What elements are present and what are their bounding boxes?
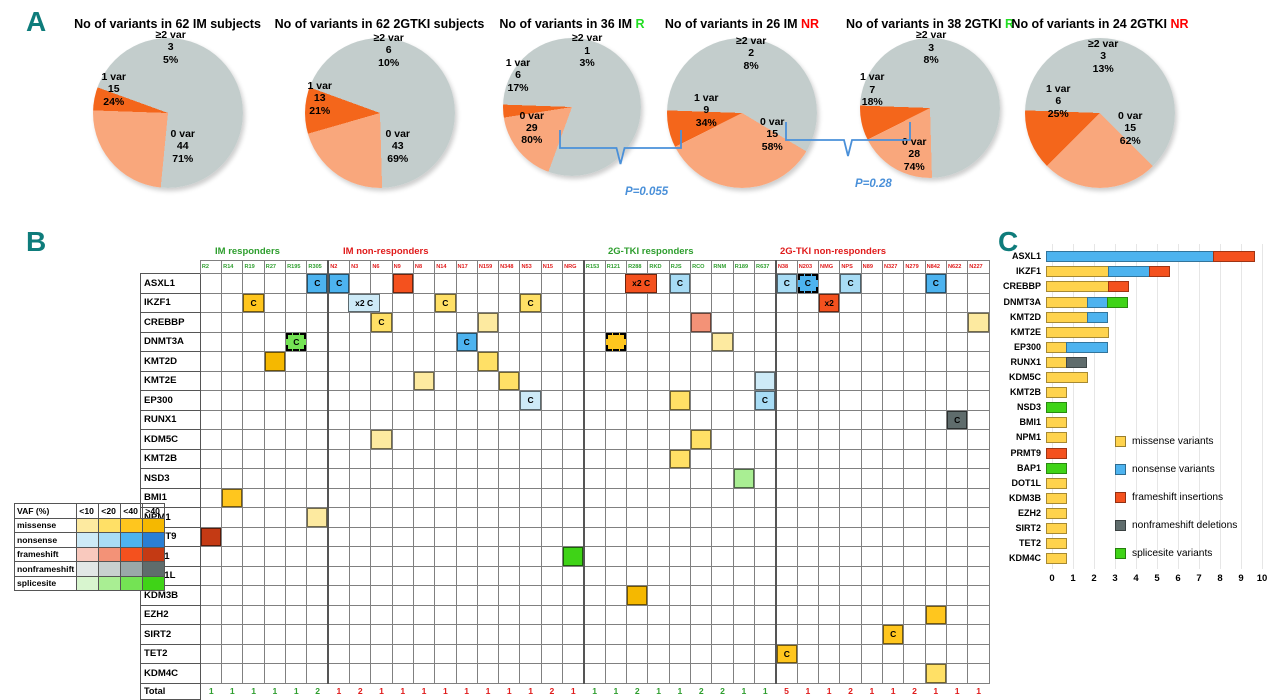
matrix-cell[interactable]	[819, 313, 840, 333]
matrix-cell[interactable]	[243, 488, 264, 508]
matrix-cell[interactable]	[968, 469, 990, 489]
matrix-cell[interactable]	[755, 605, 776, 625]
matrix-cell[interactable]	[669, 605, 690, 625]
matrix-cell[interactable]	[328, 430, 349, 450]
sample-header-N53[interactable]: N53	[520, 261, 541, 274]
matrix-cell[interactable]	[435, 488, 456, 508]
matrix-cell[interactable]	[499, 410, 520, 430]
matrix-cell[interactable]	[264, 508, 285, 528]
matrix-cell[interactable]	[286, 586, 307, 606]
matrix-cell[interactable]	[392, 527, 413, 547]
matrix-cell[interactable]	[200, 293, 221, 313]
matrix-cell[interactable]	[350, 586, 371, 606]
matrix-cell[interactable]	[946, 547, 967, 567]
matrix-cell[interactable]	[776, 605, 797, 625]
matrix-cell[interactable]	[200, 547, 221, 567]
matrix-cell[interactable]	[413, 586, 434, 606]
matrix-cell[interactable]	[882, 566, 903, 586]
matrix-cell[interactable]: C	[925, 274, 946, 294]
matrix-cell[interactable]	[691, 527, 712, 547]
matrix-cell[interactable]	[584, 274, 605, 294]
matrix-cell[interactable]	[477, 313, 498, 333]
matrix-cell[interactable]	[499, 625, 520, 645]
matrix-cell[interactable]	[520, 605, 541, 625]
matrix-cell[interactable]	[797, 371, 818, 391]
sample-header-RCO[interactable]: RCO	[691, 261, 712, 274]
matrix-cell[interactable]	[861, 605, 882, 625]
matrix-cell[interactable]	[563, 313, 584, 333]
matrix-cell[interactable]	[819, 508, 840, 528]
matrix-cell[interactable]	[243, 449, 264, 469]
matrix-cell[interactable]	[541, 605, 562, 625]
matrix-cell[interactable]	[222, 605, 243, 625]
matrix-cell[interactable]	[819, 644, 840, 664]
matrix-cell[interactable]	[477, 274, 498, 294]
matrix-cell[interactable]	[435, 469, 456, 489]
matrix-cell[interactable]	[691, 313, 712, 333]
matrix-cell[interactable]	[946, 586, 967, 606]
matrix-cell[interactable]	[776, 410, 797, 430]
matrix-cell[interactable]	[691, 274, 712, 294]
matrix-cell[interactable]	[222, 469, 243, 489]
matrix-cell[interactable]	[563, 410, 584, 430]
matrix-cell[interactable]	[563, 566, 584, 586]
matrix-cell[interactable]	[648, 352, 669, 372]
sample-header-N15[interactable]: N15	[541, 261, 562, 274]
matrix-cell[interactable]	[200, 664, 221, 684]
matrix-cell[interactable]	[733, 644, 754, 664]
matrix-cell[interactable]	[755, 313, 776, 333]
matrix-cell[interactable]	[648, 430, 669, 450]
matrix-cell[interactable]	[968, 547, 990, 567]
matrix-cell[interactable]	[392, 547, 413, 567]
matrix-cell[interactable]	[477, 293, 498, 313]
matrix-cell[interactable]	[605, 391, 626, 411]
matrix-cell[interactable]	[797, 352, 818, 372]
matrix-cell[interactable]: x2	[819, 293, 840, 313]
matrix-cell[interactable]	[648, 605, 669, 625]
matrix-cell[interactable]	[627, 352, 648, 372]
matrix-cell[interactable]	[413, 566, 434, 586]
matrix-cell[interactable]	[840, 430, 861, 450]
matrix-cell[interactable]	[200, 644, 221, 664]
matrix-cell[interactable]	[925, 430, 946, 450]
matrix-cell[interactable]	[755, 644, 776, 664]
matrix-cell[interactable]	[861, 371, 882, 391]
matrix-cell[interactable]	[456, 293, 477, 313]
matrix-cell[interactable]: C	[776, 644, 797, 664]
matrix-cell[interactable]	[819, 391, 840, 411]
matrix-cell[interactable]	[264, 274, 285, 294]
matrix-cell[interactable]	[925, 605, 946, 625]
matrix-cell[interactable]	[840, 644, 861, 664]
matrix-cell[interactable]	[371, 566, 392, 586]
matrix-cell[interactable]	[882, 586, 903, 606]
matrix-cell[interactable]	[584, 313, 605, 333]
matrix-cell[interactable]	[392, 430, 413, 450]
matrix-cell[interactable]	[541, 586, 562, 606]
matrix-cell[interactable]	[840, 449, 861, 469]
matrix-cell[interactable]	[392, 410, 413, 430]
matrix-cell[interactable]	[350, 332, 371, 352]
matrix-cell[interactable]	[435, 586, 456, 606]
matrix-cell[interactable]	[307, 332, 328, 352]
matrix-cell[interactable]	[456, 527, 477, 547]
matrix-cell[interactable]	[882, 469, 903, 489]
matrix-cell[interactable]	[563, 644, 584, 664]
matrix-cell[interactable]	[413, 547, 434, 567]
matrix-cell[interactable]	[520, 644, 541, 664]
matrix-cell[interactable]	[584, 547, 605, 567]
matrix-cell[interactable]	[819, 371, 840, 391]
matrix-cell[interactable]	[264, 352, 285, 372]
matrix-cell[interactable]	[648, 313, 669, 333]
matrix-cell[interactable]	[286, 352, 307, 372]
matrix-cell[interactable]	[691, 566, 712, 586]
matrix-cell[interactable]	[520, 410, 541, 430]
matrix-cell[interactable]	[584, 508, 605, 528]
matrix-cell[interactable]	[819, 352, 840, 372]
matrix-cell[interactable]	[882, 508, 903, 528]
matrix-cell[interactable]	[584, 293, 605, 313]
matrix-cell[interactable]	[733, 410, 754, 430]
matrix-cell[interactable]	[797, 566, 818, 586]
matrix-cell[interactable]	[286, 410, 307, 430]
matrix-cell[interactable]	[371, 664, 392, 684]
matrix-cell[interactable]	[691, 352, 712, 372]
matrix-cell[interactable]	[968, 430, 990, 450]
matrix-cell[interactable]	[840, 625, 861, 645]
matrix-cell[interactable]	[819, 332, 840, 352]
matrix-cell[interactable]	[840, 293, 861, 313]
matrix-cell[interactable]	[328, 449, 349, 469]
matrix-cell[interactable]	[413, 449, 434, 469]
matrix-cell[interactable]	[243, 586, 264, 606]
matrix-cell[interactable]: C	[946, 410, 967, 430]
matrix-cell[interactable]	[392, 625, 413, 645]
matrix-cell[interactable]	[392, 566, 413, 586]
matrix-cell[interactable]	[200, 332, 221, 352]
matrix-cell[interactable]	[264, 469, 285, 489]
matrix-cell[interactable]	[755, 430, 776, 450]
matrix-cell[interactable]	[776, 488, 797, 508]
matrix-cell[interactable]	[669, 391, 690, 411]
matrix-cell[interactable]	[733, 547, 754, 567]
matrix-cell[interactable]	[584, 605, 605, 625]
matrix-cell[interactable]	[946, 313, 967, 333]
matrix-cell[interactable]	[456, 371, 477, 391]
matrix-cell[interactable]	[861, 488, 882, 508]
matrix-cell[interactable]: C	[755, 391, 776, 411]
matrix-cell[interactable]	[286, 391, 307, 411]
matrix-cell[interactable]	[946, 527, 967, 547]
matrix-cell[interactable]	[520, 664, 541, 684]
matrix-cell[interactable]	[307, 586, 328, 606]
matrix-cell[interactable]	[776, 313, 797, 333]
matrix-cell[interactable]	[541, 449, 562, 469]
matrix-cell[interactable]	[286, 488, 307, 508]
matrix-cell[interactable]	[307, 313, 328, 333]
matrix-cell[interactable]	[520, 332, 541, 352]
matrix-cell[interactable]	[819, 274, 840, 294]
matrix-cell[interactable]	[413, 469, 434, 489]
matrix-cell[interactable]	[328, 605, 349, 625]
matrix-cell[interactable]	[243, 605, 264, 625]
matrix-cell[interactable]	[840, 527, 861, 547]
matrix-cell[interactable]	[691, 371, 712, 391]
matrix-cell[interactable]	[712, 488, 733, 508]
matrix-cell[interactable]	[648, 547, 669, 567]
matrix-cell[interactable]	[200, 586, 221, 606]
matrix-cell[interactable]	[200, 352, 221, 372]
matrix-cell[interactable]	[669, 625, 690, 645]
matrix-cell[interactable]	[840, 605, 861, 625]
matrix-cell[interactable]	[669, 371, 690, 391]
matrix-cell[interactable]	[200, 449, 221, 469]
matrix-cell[interactable]	[733, 274, 754, 294]
sample-header-N6[interactable]: N6	[371, 261, 392, 274]
matrix-cell[interactable]	[669, 313, 690, 333]
matrix-cell[interactable]	[605, 566, 626, 586]
matrix-cell[interactable]	[648, 469, 669, 489]
matrix-cell[interactable]	[648, 586, 669, 606]
sample-header-N842[interactable]: N842	[925, 261, 946, 274]
matrix-cell[interactable]	[925, 586, 946, 606]
matrix-cell[interactable]	[904, 508, 925, 528]
matrix-cell[interactable]	[499, 274, 520, 294]
matrix-cell[interactable]	[413, 274, 434, 294]
matrix-cell[interactable]	[840, 391, 861, 411]
matrix-cell[interactable]	[904, 430, 925, 450]
matrix-cell[interactable]	[222, 313, 243, 333]
matrix-cell[interactable]	[456, 352, 477, 372]
matrix-cell[interactable]	[541, 664, 562, 684]
matrix-cell[interactable]	[456, 566, 477, 586]
matrix-cell[interactable]	[499, 664, 520, 684]
matrix-cell[interactable]	[328, 625, 349, 645]
matrix-cell[interactable]	[669, 449, 690, 469]
matrix-cell[interactable]	[264, 527, 285, 547]
matrix-cell[interactable]	[712, 625, 733, 645]
matrix-cell[interactable]	[222, 274, 243, 294]
matrix-cell[interactable]	[584, 566, 605, 586]
matrix-cell[interactable]	[392, 371, 413, 391]
matrix-cell[interactable]	[350, 352, 371, 372]
matrix-cell[interactable]	[819, 527, 840, 547]
matrix-cell[interactable]	[371, 371, 392, 391]
matrix-cell[interactable]	[563, 449, 584, 469]
matrix-cell[interactable]	[946, 625, 967, 645]
matrix-cell[interactable]	[648, 644, 669, 664]
matrix-cell[interactable]	[392, 488, 413, 508]
matrix-cell[interactable]	[499, 391, 520, 411]
matrix-cell[interactable]	[968, 488, 990, 508]
matrix-cell[interactable]	[477, 391, 498, 411]
matrix-cell[interactable]	[541, 352, 562, 372]
matrix-cell[interactable]	[925, 332, 946, 352]
matrix-cell[interactable]	[712, 644, 733, 664]
matrix-cell[interactable]	[264, 332, 285, 352]
matrix-cell[interactable]	[243, 274, 264, 294]
matrix-cell[interactable]	[712, 508, 733, 528]
matrix-cell[interactable]	[563, 664, 584, 684]
matrix-cell[interactable]	[307, 371, 328, 391]
sample-header-NPS[interactable]: NPS	[840, 261, 861, 274]
matrix-cell[interactable]	[840, 508, 861, 528]
matrix-cell[interactable]	[733, 391, 754, 411]
matrix-cell[interactable]	[435, 664, 456, 684]
matrix-cell[interactable]	[797, 313, 818, 333]
matrix-cell[interactable]	[733, 488, 754, 508]
matrix-cell[interactable]	[307, 508, 328, 528]
matrix-cell[interactable]	[840, 664, 861, 684]
matrix-cell[interactable]	[776, 371, 797, 391]
matrix-cell[interactable]	[371, 586, 392, 606]
matrix-cell[interactable]	[776, 293, 797, 313]
matrix-cell[interactable]	[264, 371, 285, 391]
matrix-cell[interactable]	[392, 664, 413, 684]
matrix-cell[interactable]	[648, 488, 669, 508]
matrix-cell[interactable]	[563, 625, 584, 645]
matrix-cell[interactable]	[392, 332, 413, 352]
matrix-cell[interactable]	[563, 352, 584, 372]
matrix-cell[interactable]	[968, 274, 990, 294]
matrix-cell[interactable]	[691, 449, 712, 469]
matrix-cell[interactable]	[222, 586, 243, 606]
matrix-cell[interactable]	[712, 274, 733, 294]
matrix-cell[interactable]	[968, 644, 990, 664]
matrix-cell[interactable]	[499, 547, 520, 567]
matrix-cell[interactable]: C	[328, 274, 349, 294]
matrix-cell[interactable]	[477, 586, 498, 606]
matrix-cell[interactable]	[925, 449, 946, 469]
matrix-cell[interactable]	[243, 547, 264, 567]
matrix-cell[interactable]	[925, 410, 946, 430]
matrix-cell[interactable]	[541, 410, 562, 430]
matrix-cell[interactable]	[840, 410, 861, 430]
matrix-cell[interactable]	[904, 488, 925, 508]
matrix-cell[interactable]	[797, 586, 818, 606]
matrix-cell[interactable]	[541, 625, 562, 645]
matrix-cell[interactable]	[797, 664, 818, 684]
matrix-cell[interactable]	[499, 332, 520, 352]
matrix-cell[interactable]	[328, 586, 349, 606]
matrix-cell[interactable]	[904, 293, 925, 313]
matrix-cell[interactable]	[904, 391, 925, 411]
matrix-cell[interactable]	[563, 508, 584, 528]
matrix-cell[interactable]	[499, 566, 520, 586]
matrix-cell[interactable]	[307, 625, 328, 645]
matrix-cell[interactable]	[691, 391, 712, 411]
matrix-cell[interactable]	[328, 664, 349, 684]
matrix-cell[interactable]	[712, 313, 733, 333]
matrix-cell[interactable]	[584, 391, 605, 411]
matrix-cell[interactable]	[435, 371, 456, 391]
matrix-cell[interactable]	[286, 293, 307, 313]
matrix-cell[interactable]	[264, 547, 285, 567]
matrix-cell[interactable]	[946, 371, 967, 391]
matrix-cell[interactable]	[605, 449, 626, 469]
matrix-cell[interactable]	[563, 274, 584, 294]
matrix-cell[interactable]	[350, 410, 371, 430]
matrix-cell[interactable]	[222, 449, 243, 469]
matrix-cell[interactable]	[669, 527, 690, 547]
matrix-cell[interactable]	[755, 586, 776, 606]
matrix-cell[interactable]	[520, 488, 541, 508]
matrix-cell[interactable]	[413, 488, 434, 508]
sample-header-RNM[interactable]: RNM	[712, 261, 733, 274]
matrix-cell[interactable]	[968, 332, 990, 352]
matrix-cell[interactable]	[584, 410, 605, 430]
matrix-cell[interactable]	[477, 625, 498, 645]
matrix-cell[interactable]	[222, 625, 243, 645]
matrix-cell[interactable]	[435, 430, 456, 450]
matrix-cell[interactable]	[286, 449, 307, 469]
matrix-cell[interactable]	[946, 293, 967, 313]
matrix-cell[interactable]	[882, 352, 903, 372]
matrix-cell[interactable]	[904, 371, 925, 391]
matrix-cell[interactable]	[413, 313, 434, 333]
sample-header-N327[interactable]: N327	[882, 261, 903, 274]
matrix-cell[interactable]	[861, 547, 882, 567]
matrix-cell[interactable]	[968, 664, 990, 684]
matrix-cell[interactable]: C	[882, 625, 903, 645]
matrix-cell[interactable]	[627, 410, 648, 430]
matrix-cell[interactable]	[286, 469, 307, 489]
matrix-cell[interactable]	[499, 644, 520, 664]
matrix-cell[interactable]	[328, 293, 349, 313]
matrix-cell[interactable]	[435, 449, 456, 469]
matrix-cell[interactable]	[541, 566, 562, 586]
matrix-cell[interactable]	[584, 352, 605, 372]
matrix-cell[interactable]	[776, 625, 797, 645]
matrix-cell[interactable]	[819, 410, 840, 430]
matrix-cell[interactable]	[797, 488, 818, 508]
matrix-cell[interactable]	[605, 371, 626, 391]
matrix-cell[interactable]	[350, 449, 371, 469]
matrix-cell[interactable]	[819, 547, 840, 567]
matrix-cell[interactable]	[456, 625, 477, 645]
matrix-cell[interactable]	[350, 625, 371, 645]
matrix-cell[interactable]	[819, 664, 840, 684]
sample-header-R195[interactable]: R195	[286, 261, 307, 274]
matrix-cell[interactable]	[712, 469, 733, 489]
matrix-cell[interactable]	[605, 488, 626, 508]
matrix-cell[interactable]	[222, 352, 243, 372]
matrix-cell[interactable]	[648, 449, 669, 469]
sample-header-R637[interactable]: R637	[755, 261, 776, 274]
matrix-cell[interactable]	[819, 625, 840, 645]
matrix-cell[interactable]	[499, 527, 520, 547]
matrix-cell[interactable]	[200, 605, 221, 625]
matrix-cell[interactable]	[925, 527, 946, 547]
matrix-cell[interactable]	[882, 371, 903, 391]
matrix-cell[interactable]	[627, 488, 648, 508]
matrix-cell[interactable]	[691, 605, 712, 625]
matrix-cell[interactable]: C	[435, 293, 456, 313]
matrix-cell[interactable]	[264, 488, 285, 508]
matrix-cell[interactable]	[605, 586, 626, 606]
matrix-cell[interactable]	[307, 293, 328, 313]
matrix-cell[interactable]	[882, 605, 903, 625]
matrix-cell[interactable]	[968, 352, 990, 372]
matrix-cell[interactable]	[307, 488, 328, 508]
matrix-cell[interactable]	[861, 332, 882, 352]
matrix-cell[interactable]	[627, 313, 648, 333]
matrix-cell[interactable]	[797, 625, 818, 645]
matrix-cell[interactable]	[733, 430, 754, 450]
matrix-cell[interactable]	[797, 410, 818, 430]
